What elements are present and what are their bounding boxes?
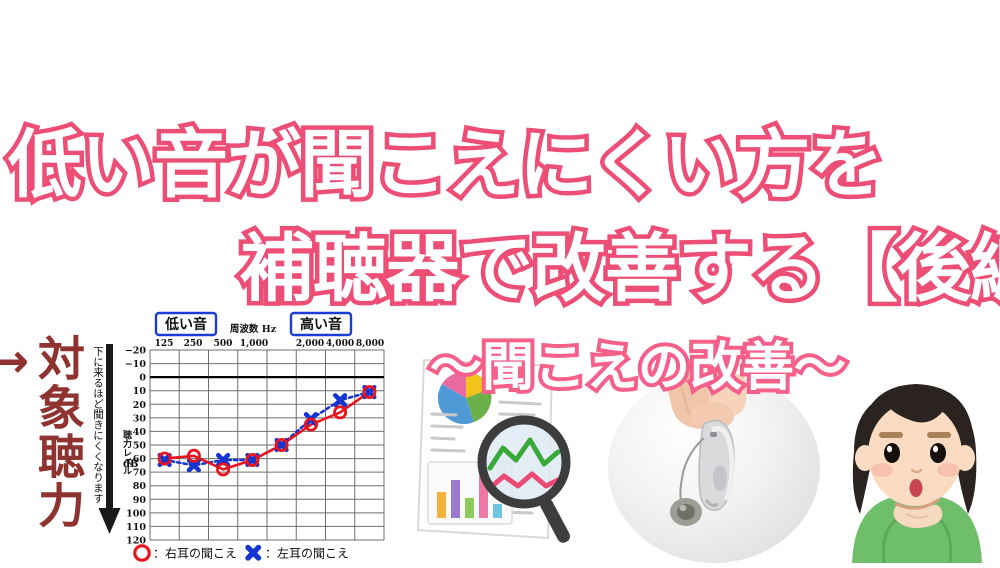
svg-text:40: 40 xyxy=(133,427,147,438)
svg-text:110: 110 xyxy=(126,522,146,533)
target-hearing-level-label: 対象聴力 → xyxy=(18,334,80,556)
svg-text:−20: −20 xyxy=(125,346,147,357)
svg-text:0: 0 xyxy=(139,373,146,384)
svg-text:4,000: 4,000 xyxy=(326,339,354,349)
svg-text:60: 60 xyxy=(133,454,147,465)
svg-text:125: 125 xyxy=(155,339,174,349)
svg-text:80: 80 xyxy=(133,481,147,492)
legend-right-ear-label: ：右耳の聞こえ xyxy=(153,546,237,561)
svg-text:1,000: 1,000 xyxy=(240,339,268,349)
high-tone-box: 高い音 xyxy=(291,313,351,335)
thumbnail-canvas: 低い音が聞こえにくい方を 補聴器で改善する【後編】 〜聞こえの改善〜 対象聴力 … xyxy=(0,0,1000,563)
svg-text:30: 30 xyxy=(133,413,147,424)
svg-text:低い音: 低い音 xyxy=(164,316,207,333)
low-tone-box: 低い音 xyxy=(156,313,216,335)
page-subtitle: 〜聞こえの改善〜 xyxy=(430,342,846,394)
legend-left-ear-icon xyxy=(248,548,259,559)
svg-text:100: 100 xyxy=(126,508,146,519)
chart-legend: ：右耳の聞こえ ：左耳の聞こえ xyxy=(135,546,349,561)
legend-right-ear-icon xyxy=(135,546,149,560)
x-axis-title: 周波数 Hz xyxy=(230,323,277,335)
svg-text:2,000: 2,000 xyxy=(296,339,324,349)
page-title-line-2: 補聴器で改善する【後編】 xyxy=(240,232,1000,306)
chart-grid xyxy=(150,350,384,540)
svg-text:250: 250 xyxy=(184,339,203,349)
svg-text:−10: −10 xyxy=(125,359,147,370)
puzzled-woman-illustration xyxy=(832,378,1000,563)
svg-text:500: 500 xyxy=(214,339,233,349)
page-title-line-1: 低い音が聞こえにくい方を xyxy=(8,128,883,202)
svg-text:10: 10 xyxy=(133,386,147,397)
svg-text:20: 20 xyxy=(133,400,147,411)
hearing-aid-photo xyxy=(608,372,820,563)
hearing-aid-device xyxy=(699,420,734,510)
legend-left-ear-label: ：左耳の聞こえ xyxy=(265,546,349,561)
x-tick-labels: 125 250 500 1,000 2,000 4,000 8,000 xyxy=(155,339,384,349)
svg-text:高い音: 高い音 xyxy=(300,316,342,333)
axis-note-text: 下に来るほど聞きにくくなります xyxy=(92,346,104,504)
svg-text:90: 90 xyxy=(133,495,147,506)
svg-text:8,000: 8,000 xyxy=(356,339,384,349)
ear-dome xyxy=(670,498,702,526)
svg-text:70: 70 xyxy=(133,468,147,479)
audiogram-chart: 下に来るほど聞きにくくなります 低い音 高い音 周波数 Hz 聴力レベル dB xyxy=(84,310,394,563)
svg-text:50: 50 xyxy=(133,441,147,452)
